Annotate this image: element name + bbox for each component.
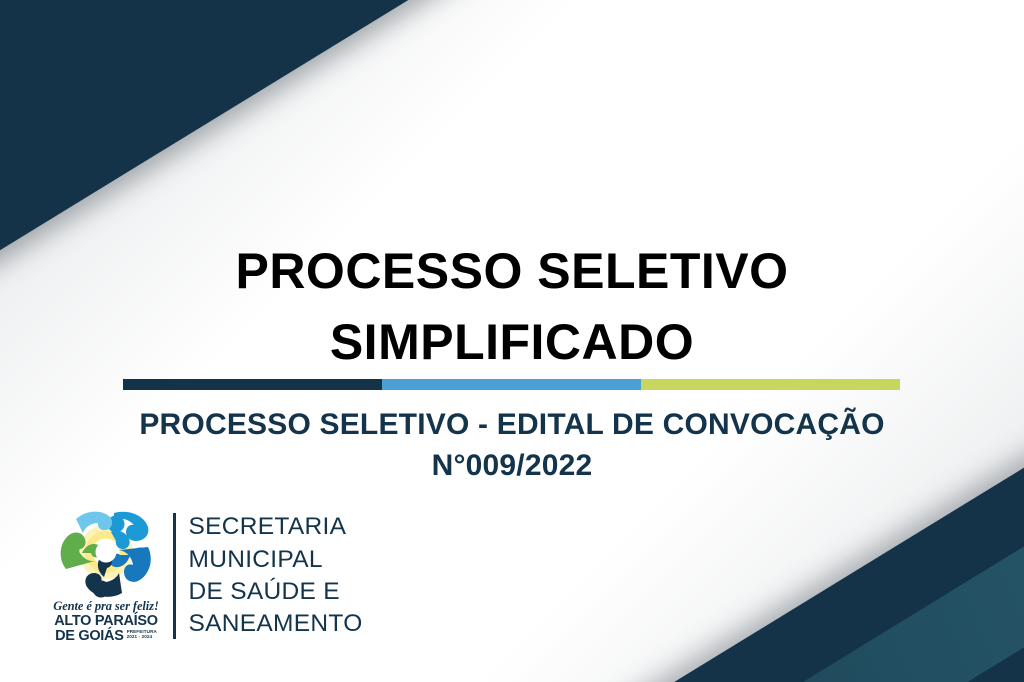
organization-logo-lockup: Gente é pra ser feliz! ALTO PARAÍSO DE G… xyxy=(52,505,363,647)
organization-name: SECRETARIA MUNICIPAL DE SAÚDE E SANEAMEN… xyxy=(189,511,363,640)
logo-city-name: ALTO PARAÍSO DE GOIÁSPREFEITURA2021 - 20… xyxy=(52,614,160,643)
flower-people-emblem-icon xyxy=(56,505,156,601)
title-line-1: PROCESSO SELETIVO xyxy=(0,236,1024,307)
org-line-3: DE SAÚDE E xyxy=(189,576,363,608)
page-title: PROCESSO SELETIVO SIMPLIFICADO xyxy=(0,236,1024,378)
logo-city-line-2: DE GOIÁS xyxy=(55,629,124,644)
subtitle-line-2: N°009/2022 xyxy=(0,445,1024,486)
slide-content: PROCESSO SELETIVO SIMPLIFICADO PROCESSO … xyxy=(0,0,1024,682)
logo-tagline: Gente é pra ser feliz! xyxy=(52,599,160,614)
logo-admin-line-1: PREFEITURA xyxy=(127,629,157,634)
subtitle-line-1: PROCESSO SELETIVO - EDITAL DE CONVOCAÇÃO xyxy=(0,404,1024,445)
municipality-logo: Gente é pra ser feliz! ALTO PARAÍSO DE G… xyxy=(52,505,160,647)
org-line-2: MUNICIPAL xyxy=(189,544,363,576)
logo-administration: PREFEITURA2021 - 2024 xyxy=(127,629,157,639)
page-subtitle: PROCESSO SELETIVO - EDITAL DE CONVOCAÇÃO… xyxy=(0,404,1024,486)
tricolor-divider xyxy=(123,379,900,390)
logo-city-line-1: ALTO PARAÍSO xyxy=(52,614,160,629)
presentation-slide: PROCESSO SELETIVO SIMPLIFICADO PROCESSO … xyxy=(0,0,1024,682)
org-line-4: SANEAMENTO xyxy=(189,608,363,640)
logo-admin-line-2: 2021 - 2024 xyxy=(127,634,157,639)
divider-segment-green xyxy=(641,379,900,390)
logo-vertical-divider xyxy=(173,513,176,639)
divider-segment-navy xyxy=(123,379,382,390)
title-line-2: SIMPLIFICADO xyxy=(0,307,1024,378)
org-line-1: SECRETARIA xyxy=(189,511,363,543)
divider-segment-blue xyxy=(382,379,641,390)
